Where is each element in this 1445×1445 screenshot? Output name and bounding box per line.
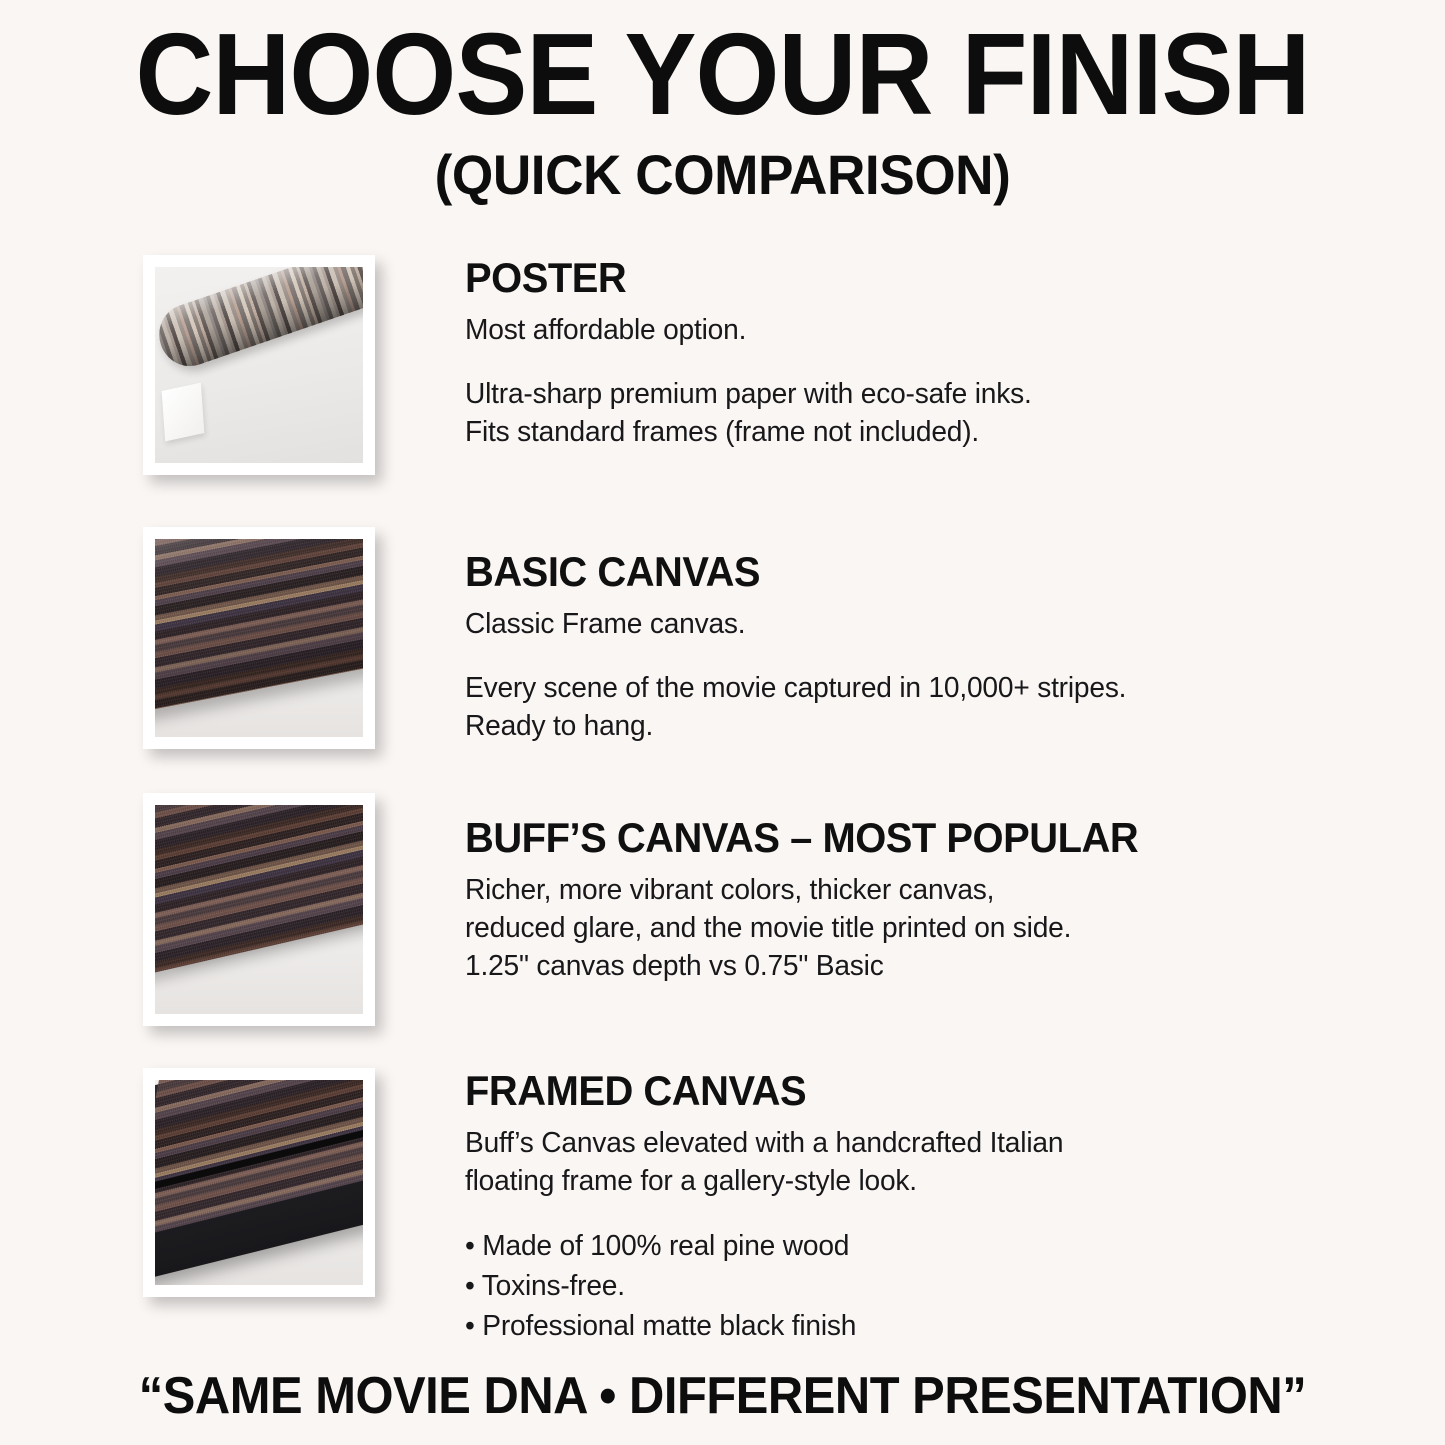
framed-canvas-bullet-list: Made of 100% real pine wood Toxins-free.… [465,1226,1225,1346]
framed-canvas-photo [155,1080,363,1285]
page-subtitle: (QUICK COMPARISON) [36,146,1409,204]
framed-canvas-heading: FRAMED CANVAS [465,1068,1187,1114]
framed-canvas-text-column: FRAMED CANVAS Buff’s Canvas elevated wit… [465,1068,1225,1346]
option-row-buffs-canvas: BUFF’S CANVAS – MOST POPULAR Richer, mor… [0,793,1445,1026]
poster-detail-line-2: Fits standard frames (frame not included… [465,413,1202,451]
poster-image-card [143,255,375,475]
framed-canvas-image-card [143,1068,375,1297]
page-title: CHOOSE YOUR FINISH [51,18,1395,130]
poster-tagline: Most affordable option. [465,311,1202,349]
buffs-canvas-detail-line-1: Richer, more vibrant colors, thicker can… [465,871,1202,909]
poster-detail-line-1: Ultra-sharp premium paper with eco-safe … [465,375,1202,413]
poster-paper-tail [162,383,205,442]
basic-canvas-heading: BASIC CANVAS [465,549,1187,595]
poster-heading: POSTER [465,255,1187,301]
rolled-poster-photo [155,267,363,463]
buffs-canvas-heading: BUFF’S CANVAS – MOST POPULAR [465,815,1187,861]
basic-canvas-photo [155,539,363,737]
option-row-framed-canvas: FRAMED CANVAS Buff’s Canvas elevated wit… [0,1068,1445,1297]
footer: “SAME MOVIE DNA • DIFFERENT PRESENTATION… [0,1368,1445,1424]
list-item: Professional matte black finish [465,1306,1202,1346]
framed-canvas-detail-line-2: floating frame for a gallery-style look. [465,1162,1202,1200]
buffs-canvas-detail-line-3: 1.25" canvas depth vs 0.75" Basic [465,947,1202,985]
option-row-basic-canvas: BASIC CANVAS Classic Frame canvas. Every… [0,527,1445,749]
buffs-canvas-text-column: BUFF’S CANVAS – MOST POPULAR Richer, mor… [465,793,1225,985]
buffs-canvas-image-card [143,793,375,1026]
footer-tagline: “SAME MOVIE DNA • DIFFERENT PRESENTATION… [43,1368,1401,1424]
basic-canvas-image-card [143,527,375,749]
infographic-page: CHOOSE YOUR FINISH (QUICK COMPARISON) PO… [0,0,1445,1445]
basic-canvas-tagline: Classic Frame canvas. [465,605,1202,643]
header: CHOOSE YOUR FINISH (QUICK COMPARISON) [0,18,1445,204]
framed-canvas-detail-line-1: Buff’s Canvas elevated with a handcrafte… [465,1124,1202,1162]
poster-text-column: POSTER Most affordable option. Ultra-sha… [465,255,1225,451]
basic-canvas-detail-line-1: Every scene of the movie captured in 10,… [465,669,1202,707]
list-item: Toxins-free. [465,1266,1202,1306]
basic-canvas-text-column: BASIC CANVAS Classic Frame canvas. Every… [465,527,1225,745]
list-item: Made of 100% real pine wood [465,1226,1202,1266]
buffs-canvas-photo [155,805,363,1014]
option-row-poster: POSTER Most affordable option. Ultra-sha… [0,255,1445,475]
buffs-canvas-detail-line-2: reduced glare, and the movie title print… [465,909,1202,947]
basic-canvas-detail-line-2: Ready to hang. [465,707,1202,745]
